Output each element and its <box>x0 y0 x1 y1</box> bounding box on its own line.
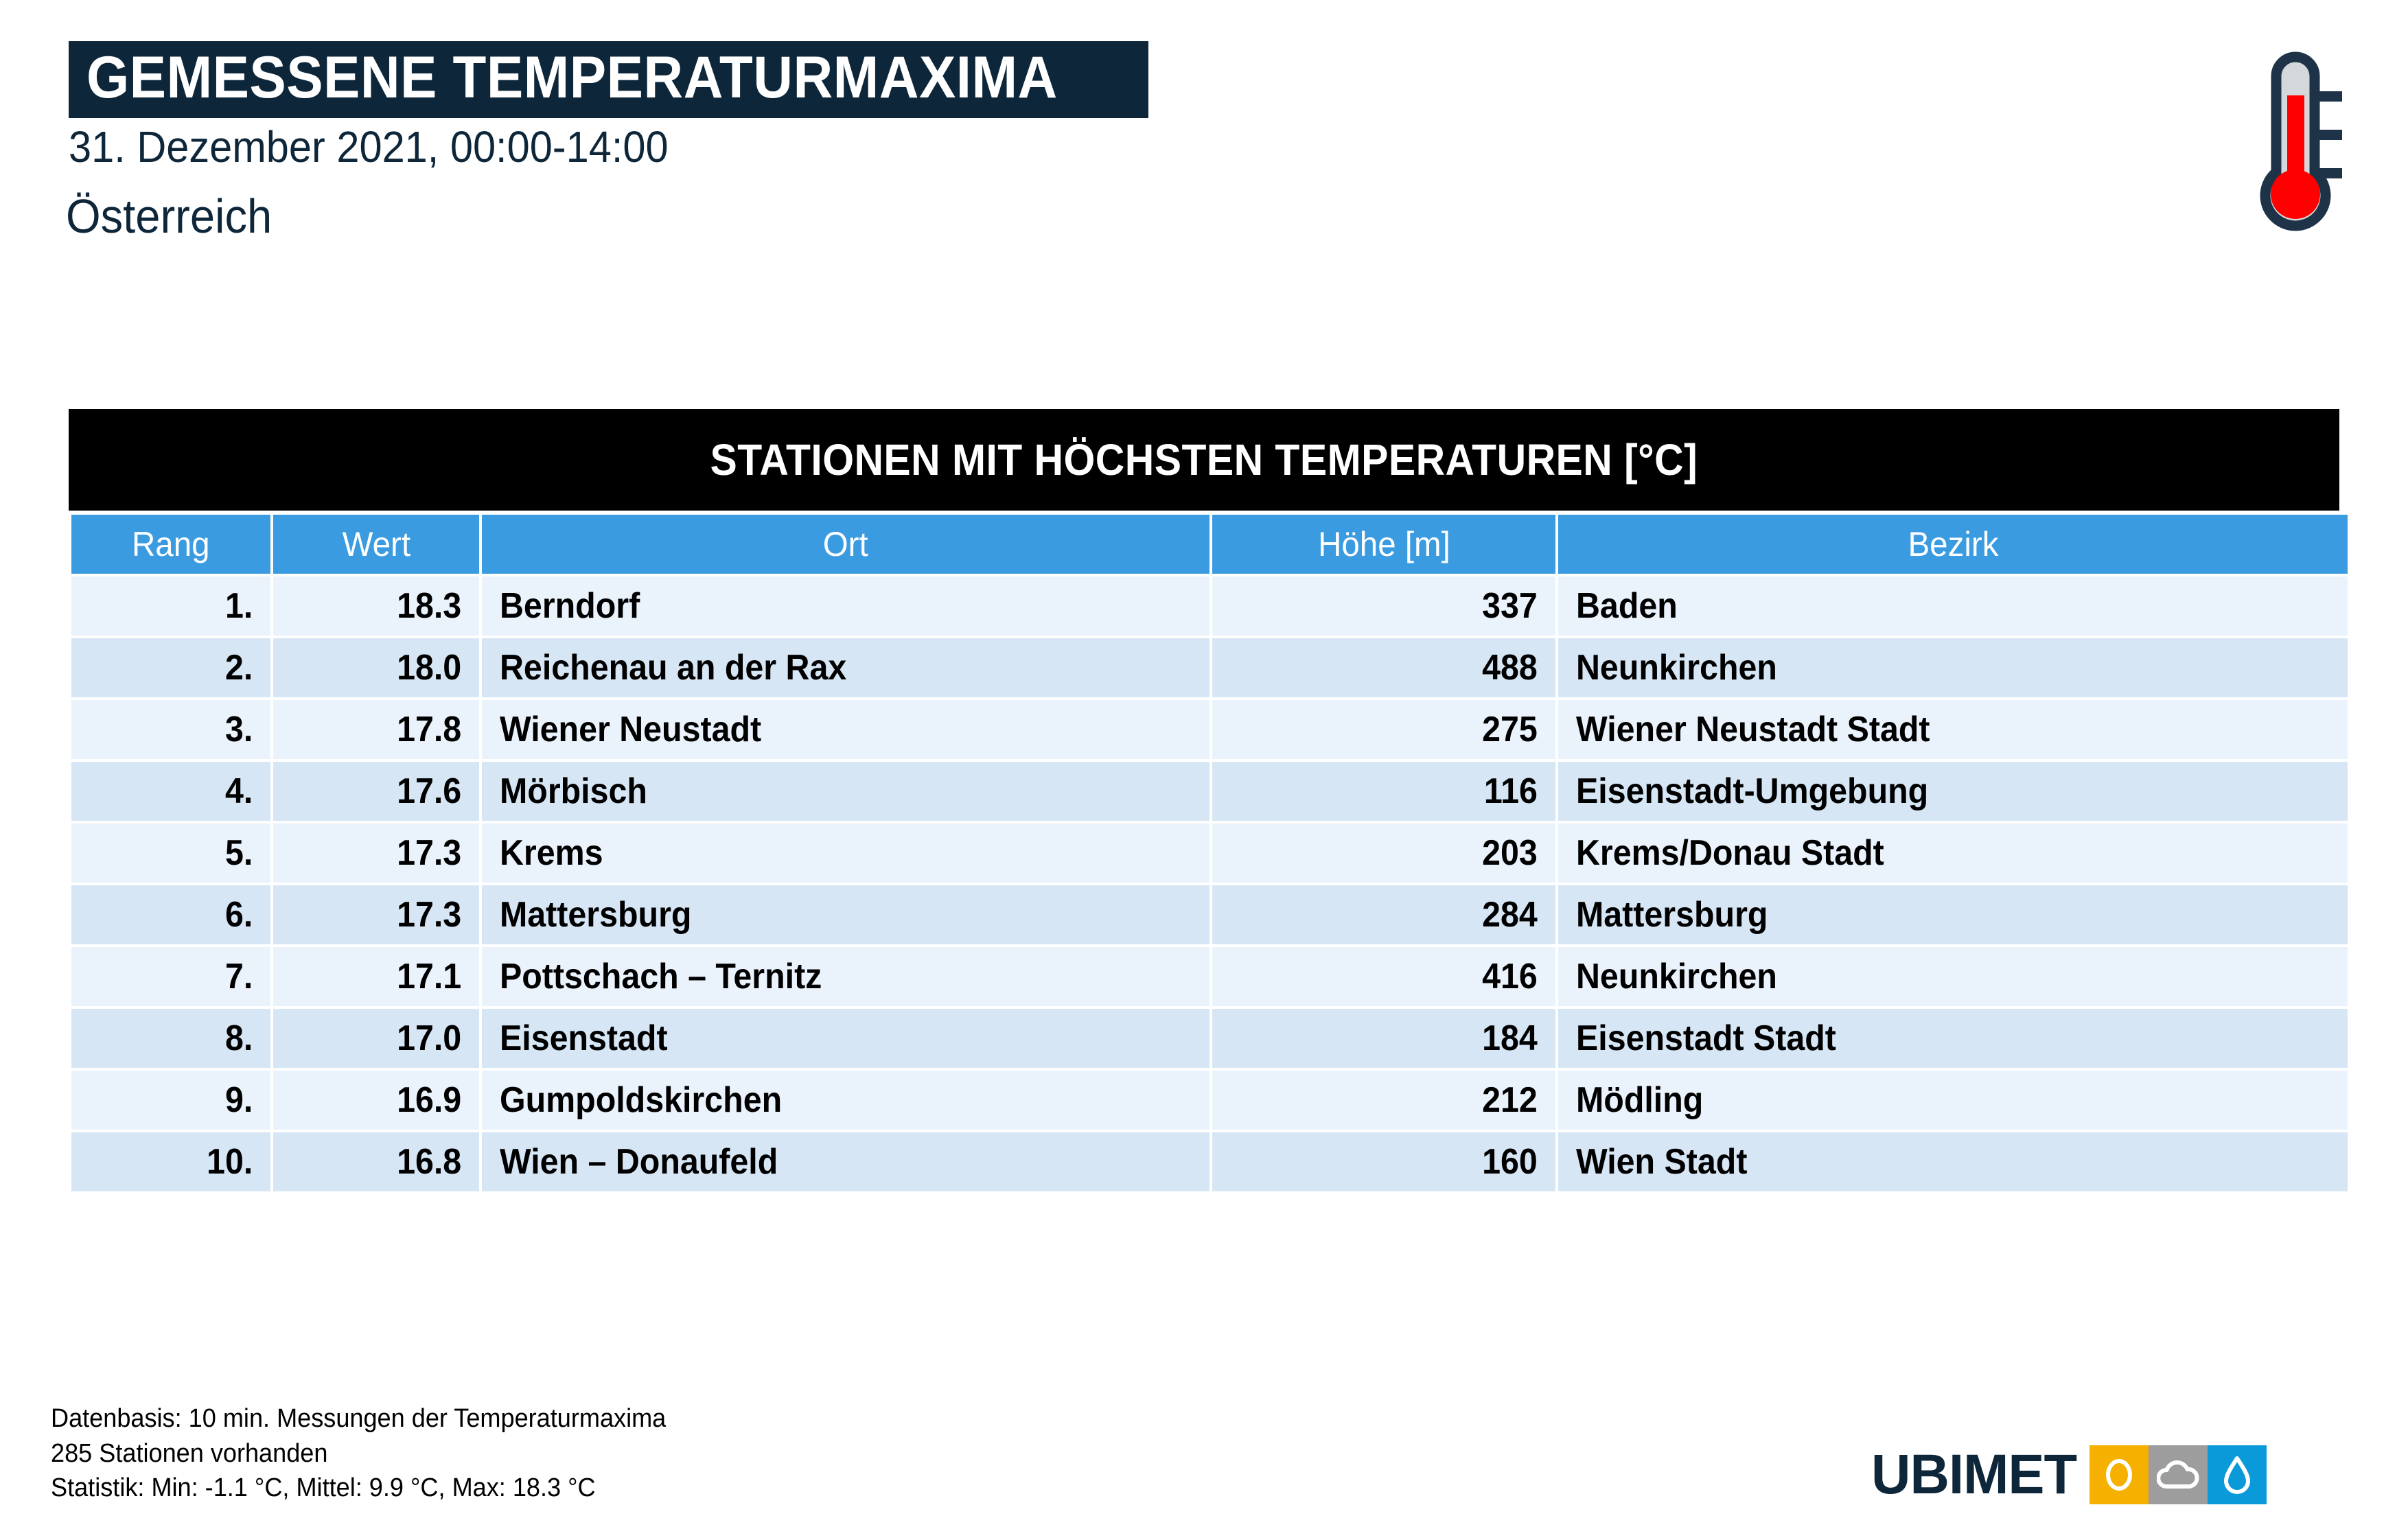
cell-rang: 8. <box>71 1009 270 1068</box>
cloud-icon <box>2149 1445 2208 1504</box>
column-header-wert: Wert <box>273 515 479 574</box>
cell-hoehe: 116 <box>1212 762 1555 821</box>
cell-wert: 18.0 <box>273 638 479 697</box>
cell-ort: Eisenstadt <box>482 1009 1209 1068</box>
table-row: 6. 17.3 Mattersburg 284 Mattersburg <box>71 885 2348 944</box>
footer-line-datenbasis: Datenbasis: 10 min. Messungen der Temper… <box>51 1401 666 1436</box>
ubimet-logo: UBIMET <box>1871 1445 2267 1504</box>
table-caption-bar: STATIONEN MIT HÖCHSTEN TEMPERATUREN [°C] <box>69 409 2339 511</box>
cell-hoehe: 275 <box>1212 700 1555 759</box>
cell-wert: 17.8 <box>273 700 479 759</box>
cell-wert: 16.9 <box>273 1071 479 1130</box>
cell-wert: 17.1 <box>273 947 479 1006</box>
cell-wert: 17.3 <box>273 885 479 944</box>
cell-bezirk: Wien Stadt <box>1558 1132 2348 1191</box>
cell-hoehe: 488 <box>1212 638 1555 697</box>
title-banner: GEMESSENE TEMPERATURMAXIMA <box>69 41 1148 118</box>
footer-line-statistik: Statistik: Min: -1.1 °C, Mittel: 9.9 °C,… <box>51 1471 666 1506</box>
cell-bezirk: Krems/Donau Stadt <box>1558 824 2348 883</box>
table-caption: STATIONEN MIT HÖCHSTEN TEMPERATUREN [°C] <box>710 434 1698 485</box>
cell-hoehe: 203 <box>1212 824 1555 883</box>
cell-ort: Berndorf <box>482 576 1209 635</box>
cell-hoehe: 337 <box>1212 576 1555 635</box>
cell-ort: Gumpoldskirchen <box>482 1071 1209 1130</box>
cell-bezirk: Mattersburg <box>1558 885 2348 944</box>
footer-line-stationen: 285 Stationen vorhanden <box>51 1436 666 1471</box>
cell-bezirk: Baden <box>1558 576 2348 635</box>
rankings-table: Rang Wert Ort Höhe [m] Bezirk 1. 18.3 Be… <box>69 512 2350 1194</box>
cell-hoehe: 212 <box>1212 1071 1555 1130</box>
region-label: Österreich <box>66 192 272 240</box>
cell-ort: Wien – Donaufeld <box>482 1132 1209 1191</box>
table-row: 2. 18.0 Reichenau an der Rax 488 Neunkir… <box>71 638 2348 697</box>
cell-rang: 7. <box>71 947 270 1006</box>
cell-bezirk: Neunkirchen <box>1558 638 2348 697</box>
cell-rang: 5. <box>71 824 270 883</box>
cell-rang: 2. <box>71 638 270 697</box>
cell-bezirk: Eisenstadt Stadt <box>1558 1009 2348 1068</box>
cell-wert: 17.6 <box>273 762 479 821</box>
cell-rang: 1. <box>71 576 270 635</box>
footer-notes: Datenbasis: 10 min. Messungen der Temper… <box>51 1401 698 1506</box>
cell-wert: 17.3 <box>273 824 479 883</box>
table-row: 8. 17.0 Eisenstadt 184 Eisenstadt Stadt <box>71 1009 2348 1068</box>
column-header-bezirk: Bezirk <box>1558 515 2348 574</box>
cell-wert: 17.0 <box>273 1009 479 1068</box>
page-title: GEMESSENE TEMPERATURMAXIMA <box>86 48 1058 107</box>
cell-rang: 10. <box>71 1132 270 1191</box>
column-header-ort: Ort <box>482 515 1209 574</box>
thermometer-icon <box>2253 38 2370 240</box>
cell-rang: 4. <box>71 762 270 821</box>
cell-bezirk: Mödling <box>1558 1071 2348 1130</box>
cell-ort: Krems <box>482 824 1209 883</box>
table-row: 10. 16.8 Wien – Donaufeld 160 Wien Stadt <box>71 1132 2348 1191</box>
cell-ort: Pottschach – Ternitz <box>482 947 1209 1006</box>
cell-hoehe: 160 <box>1212 1132 1555 1191</box>
table-row: 7. 17.1 Pottschach – Ternitz 416 Neunkir… <box>71 947 2348 1006</box>
table-row: 5. 17.3 Krems 203 Krems/Donau Stadt <box>71 824 2348 883</box>
cell-wert: 18.3 <box>273 576 479 635</box>
sun-icon <box>2089 1445 2149 1504</box>
table-row: 3. 17.8 Wiener Neustadt 275 Wiener Neust… <box>71 700 2348 759</box>
cell-bezirk: Eisenstadt-Umgebung <box>1558 762 2348 821</box>
cell-ort: Reichenau an der Rax <box>482 638 1209 697</box>
cell-ort: Wiener Neustadt <box>482 700 1209 759</box>
cell-bezirk: Neunkirchen <box>1558 947 2348 1006</box>
cell-hoehe: 284 <box>1212 885 1555 944</box>
table-row: 9. 16.9 Gumpoldskirchen 212 Mödling <box>71 1071 2348 1130</box>
page-header: GEMESSENE TEMPERATURMAXIMA 31. Dezember … <box>0 0 2408 357</box>
rankings-table-container: STATIONEN MIT HÖCHSTEN TEMPERATUREN [°C]… <box>69 409 2339 1194</box>
table-header-row: Rang Wert Ort Höhe [m] Bezirk <box>71 515 2348 574</box>
date-range-subtitle: 31. Dezember 2021, 00:00-14:00 <box>69 125 669 169</box>
column-header-hoehe: Höhe [m] <box>1212 515 1555 574</box>
column-header-rang: Rang <box>71 515 270 574</box>
cell-bezirk: Wiener Neustadt Stadt <box>1558 700 2348 759</box>
ubimet-wordmark: UBIMET <box>1871 1447 2076 1503</box>
cell-wert: 16.8 <box>273 1132 479 1191</box>
cell-ort: Mattersburg <box>482 885 1209 944</box>
logo-tiles <box>2089 1445 2267 1504</box>
cell-hoehe: 416 <box>1212 947 1555 1006</box>
table-row: 1. 18.3 Berndorf 337 Baden <box>71 576 2348 635</box>
cell-rang: 3. <box>71 700 270 759</box>
cell-rang: 6. <box>71 885 270 944</box>
cell-hoehe: 184 <box>1212 1009 1555 1068</box>
cell-ort: Mörbisch <box>482 762 1209 821</box>
cell-rang: 9. <box>71 1071 270 1130</box>
table-row: 4. 17.6 Mörbisch 116 Eisenstadt-Umgebung <box>71 762 2348 821</box>
water-drop-icon <box>2208 1445 2267 1504</box>
